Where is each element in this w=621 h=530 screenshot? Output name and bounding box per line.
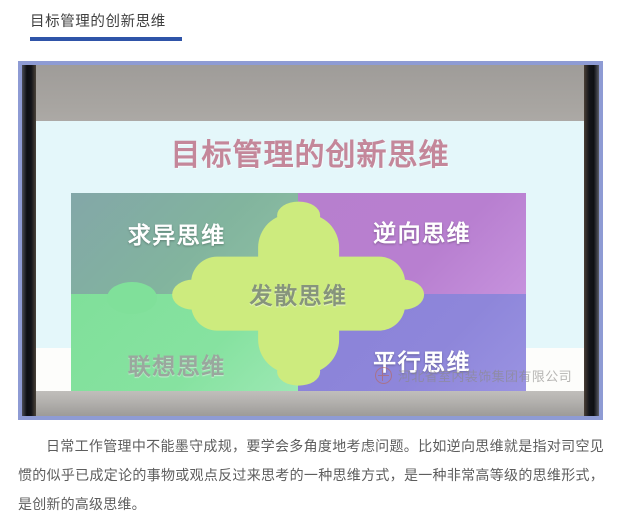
puzzle-diagram: 求异思维 逆向思维 联想思维 平行思维 [71,193,526,391]
watermark-text: 河北省室内装饰集团有限公司 [398,366,572,385]
slide-title: 目标管理的创新思维 [36,130,584,174]
article-header: 目标管理的创新思维 [0,0,621,41]
title-underline-rule [30,37,182,41]
center-piece-knob-left [172,279,215,310]
body-paragraph: 日常工作管理中不能墨守成规，要学会多角度地考虑问题。比如逆向思维就是指对司空见惯… [18,432,604,519]
screen-frame-bar-right [584,65,599,416]
center-piece-knob-bottom [277,358,320,385]
screen-frame-bar-left [22,65,36,416]
puzzle-piece-center: 发散思维 [192,213,406,374]
puzzle-label-center: 发散思维 [249,277,347,311]
watermark: 河北省室内装饰集团有限公司 [375,366,572,385]
flower-circle-icon [375,367,392,384]
photo-inner: 目标管理的创新思维 求异思维 逆向思维 联想思维 平行思维 [22,65,599,416]
puzzle-interlock-tab [107,282,157,314]
projected-slide-photo: 目标管理的创新思维 求异思维 逆向思维 联想思维 平行思维 [18,61,603,420]
center-piece-knob-top [277,202,320,229]
slide-surface: 目标管理的创新思维 求异思维 逆向思维 联想思维 平行思维 [36,121,584,391]
page-title: 目标管理的创新思维 [30,14,621,31]
